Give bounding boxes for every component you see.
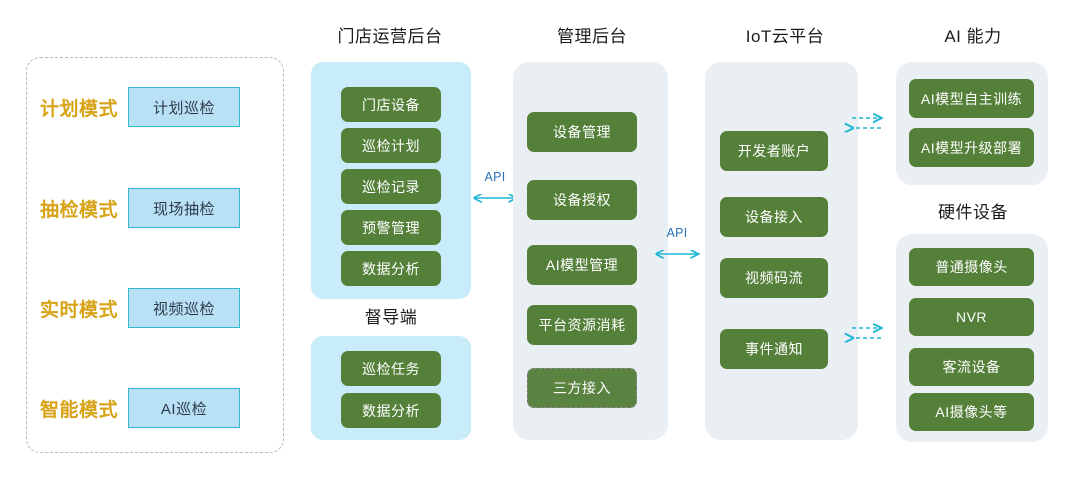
store-ops-item-4[interactable]: 数据分析 <box>341 251 441 286</box>
mode-chip-0[interactable]: 计划巡检 <box>128 87 240 127</box>
mode-label-3: 智能模式 <box>40 395 118 422</box>
api-label-1: API <box>473 170 517 184</box>
mode-chip-2[interactable]: 视频巡检 <box>128 288 240 328</box>
supervisor-item-1[interactable]: 数据分析 <box>341 393 441 428</box>
ai-item-1[interactable]: AI模型升级部署 <box>909 128 1034 167</box>
hardware-item-0[interactable]: 普通摄像头 <box>909 248 1034 286</box>
column-title-supervisor: 督导端 <box>311 303 471 328</box>
api-arrow-2 <box>652 246 702 262</box>
dashed-link-ai <box>851 112 889 138</box>
mode-row-1[interactable]: 抽检模式 现场抽检 <box>40 188 240 228</box>
admin-item-2[interactable]: AI模型管理 <box>527 245 637 285</box>
ai-item-0[interactable]: AI模型自主训练 <box>909 79 1034 118</box>
hardware-item-1[interactable]: NVR <box>909 298 1034 336</box>
api-label-2: API <box>655 226 699 240</box>
mode-chip-3[interactable]: AI巡检 <box>128 388 240 428</box>
hardware-item-3[interactable]: AI摄像头等 <box>909 393 1034 431</box>
hardware-item-2[interactable]: 客流设备 <box>909 348 1034 386</box>
mode-label-2: 实时模式 <box>40 295 118 322</box>
store-ops-item-0[interactable]: 门店设备 <box>341 87 441 122</box>
iot-panel <box>705 62 858 440</box>
column-title-ai: AI 能力 <box>898 22 1048 47</box>
iot-item-2[interactable]: 视频码流 <box>720 258 828 298</box>
mode-row-2[interactable]: 实时模式 视频巡检 <box>40 288 240 328</box>
admin-item-3[interactable]: 平台资源消耗 <box>527 305 637 345</box>
store-ops-item-2[interactable]: 巡检记录 <box>341 169 441 204</box>
iot-item-1[interactable]: 设备接入 <box>720 197 828 237</box>
column-title-admin: 管理后台 <box>512 22 672 47</box>
iot-item-3[interactable]: 事件通知 <box>720 329 828 369</box>
admin-item-1[interactable]: 设备授权 <box>527 180 637 220</box>
supervisor-item-0[interactable]: 巡检任务 <box>341 351 441 386</box>
mode-chip-1[interactable]: 现场抽检 <box>128 188 240 228</box>
admin-item-4[interactable]: 三方接入 <box>527 368 637 408</box>
mode-label-1: 抽检模式 <box>40 195 118 222</box>
mode-label-0: 计划模式 <box>40 94 118 121</box>
column-title-store-ops: 门店运营后台 <box>310 22 470 47</box>
mode-row-3[interactable]: 智能模式 AI巡检 <box>40 388 240 428</box>
store-ops-item-3[interactable]: 预警管理 <box>341 210 441 245</box>
admin-item-0[interactable]: 设备管理 <box>527 112 637 152</box>
mode-row-0[interactable]: 计划模式 计划巡检 <box>40 87 240 127</box>
column-title-hardware: 硬件设备 <box>898 198 1048 223</box>
store-ops-item-1[interactable]: 巡检计划 <box>341 128 441 163</box>
column-title-iot: IoT云平台 <box>705 22 865 47</box>
iot-item-0[interactable]: 开发者账户 <box>720 131 828 171</box>
dashed-link-hardware <box>851 322 889 348</box>
